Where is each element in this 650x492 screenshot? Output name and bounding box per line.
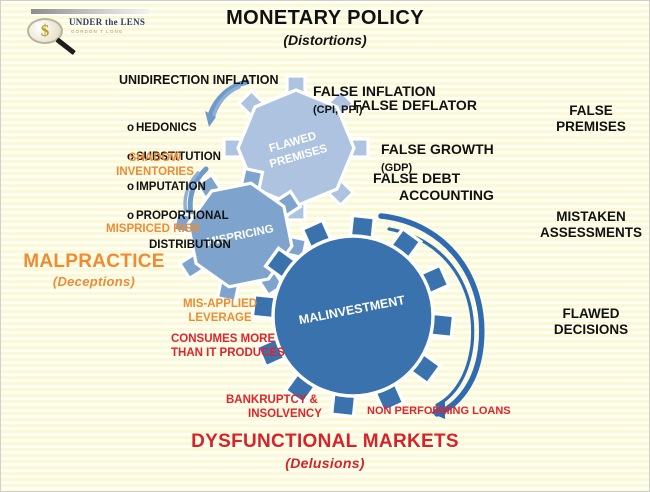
list-item-label: IMPUTATION [136, 181, 206, 193]
outcome-mistaken-assessments: MISTAKEN ASSESSMENTS [536, 209, 646, 242]
footer-title: DYSFUNCTIONAL MARKETS (Delusions) [1, 431, 649, 471]
footer-subtitle: (Delusions) [1, 455, 649, 471]
bankruptcy-insolvency-label: BANKRUPTCY & INSOLVENCY [226, 379, 322, 435]
list-item-label: PROPORTIONAL [136, 210, 229, 222]
unidirection-list: oHEDONICS oSUBSTITUTION oIMPUTATION oPRO… [119, 106, 278, 268]
page-title-text: MONETARY POLICY [226, 7, 424, 29]
shadow-inventories-label: SHADOW INVENTORIES [109, 151, 201, 179]
false-debt-line2: ACCOUNTING [373, 187, 494, 204]
outcome-flawed-decisions: FLAWED DECISIONS [541, 306, 641, 339]
false-deflator-label: FALSE DEFLATOR [353, 97, 477, 114]
consumes-more-label: CONSUMES MORE THAN IT PRODUCES [171, 332, 285, 360]
outcome-false-premises: FALSE PREMISES [541, 103, 641, 136]
list-item-continuation: DISTRIBUTION [119, 238, 278, 252]
bullet-icon: o [127, 121, 136, 135]
bankruptcy-line2: INSOLVENCY [226, 407, 322, 421]
non-performing-loans-label: NON PERFORMING LOANS [367, 405, 511, 418]
mis-applied-leverage-label: MIS-APPLIED LEVERAGE [166, 297, 274, 325]
bullet-icon: o [127, 180, 136, 194]
page-title: MONETARY POLICY (Distortions) [1, 7, 649, 48]
list-item: oHEDONICS [119, 121, 278, 135]
false-debt-accounting-label: FALSE DEBT ACCOUNTING [373, 153, 494, 221]
list-item: oPROPORTIONAL [119, 209, 278, 223]
unidirection-heading: UNIDIRECTION INFLATION [119, 73, 278, 88]
mispriced-risk-label: MISPRICED RISK [106, 222, 201, 236]
list-item: oIMPUTATION [119, 180, 278, 194]
bankruptcy-line1: BANKRUPTCY & [226, 394, 318, 406]
false-debt-line1: FALSE DEBT [373, 170, 460, 186]
list-item-label: HEDONICS [136, 122, 197, 134]
bullet-icon: o [127, 209, 136, 223]
page-subtitle: (Distortions) [1, 32, 649, 48]
diagram-canvas: $ UNDER the LENS GORDON T LONG [0, 0, 650, 492]
